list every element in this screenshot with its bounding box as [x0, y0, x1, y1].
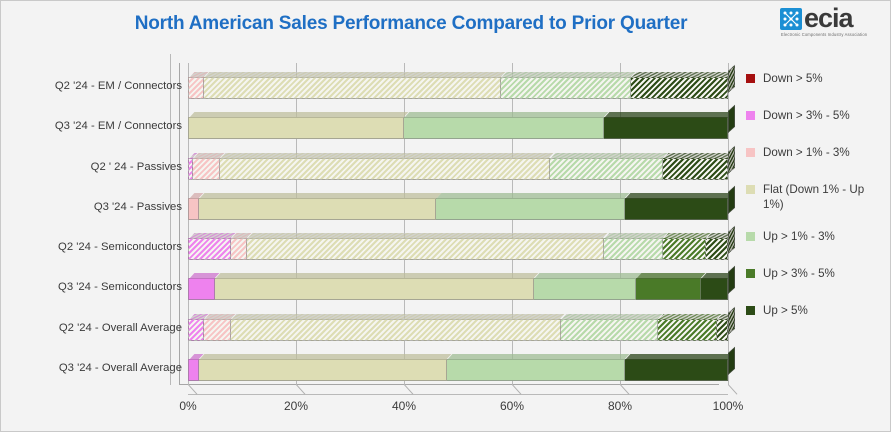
bar-segment[interactable]: [199, 198, 437, 220]
ecia-tagline: Electronic Components Industry Associati…: [781, 32, 884, 37]
bar-segment-top-face: [220, 153, 554, 159]
plot-floor-edge: [188, 394, 728, 395]
ecia-wordmark: ecia: [804, 3, 853, 33]
bar-end-cap: [728, 145, 735, 173]
bar-segment[interactable]: [706, 238, 728, 260]
chart-legend: Down > 5%Down > 3% - 5%Down > 1% - 3%Fla…: [746, 71, 886, 340]
bar-segment[interactable]: [436, 198, 625, 220]
y-axis-tick-label: Q2 '24 - EM / Connectors: [14, 80, 182, 92]
legend-item[interactable]: Down > 1% - 3%: [746, 145, 886, 165]
bar-segment-top-face: [501, 72, 635, 78]
bar-segment[interactable]: [636, 278, 701, 300]
bar-segment[interactable]: [188, 359, 199, 381]
bar-segment[interactable]: [561, 319, 658, 341]
bar-segment-top-face: [561, 314, 663, 320]
legend-item[interactable]: Up > 1% - 3%: [746, 229, 886, 249]
bar-segment[interactable]: [701, 278, 728, 300]
bar-row[interactable]: [188, 77, 728, 103]
bar-segment[interactable]: [501, 77, 631, 99]
legend-swatch-icon: [746, 306, 755, 315]
bar-segment[interactable]: [658, 319, 717, 341]
bar-end-cap: [728, 105, 735, 133]
legend-swatch-icon: [746, 111, 755, 120]
bar-segment[interactable]: [625, 198, 728, 220]
bar-segment-top-face: [189, 233, 236, 239]
bar-segment-top-face: [215, 273, 538, 279]
y-axis-tick-label: Q2 '24 - Semiconductors: [14, 241, 182, 253]
y-axis-tick-label: Q3 '24 - Overall Average: [14, 362, 182, 374]
bar-row[interactable]: [188, 359, 728, 385]
bar-segment[interactable]: [220, 158, 549, 180]
legend-swatch-icon: [746, 148, 755, 157]
bar-end-cap: [728, 306, 735, 334]
bar-segment[interactable]: [199, 359, 447, 381]
x-axis-tick-label: 100%: [698, 399, 758, 413]
legend-label: Down > 3% - 5%: [763, 109, 850, 122]
bar-segment-top-face: [550, 153, 668, 159]
bar-segment[interactable]: [188, 319, 204, 341]
bar-segment[interactable]: [188, 278, 215, 300]
gridline-depth-tick: [728, 384, 737, 394]
x-axis-tick-label: 60%: [482, 399, 542, 413]
bar-segment-top-face: [189, 112, 408, 118]
bar-segment-top-face: [447, 354, 630, 360]
x-axis-tick-label: 80%: [590, 399, 650, 413]
bar-segment[interactable]: [447, 359, 625, 381]
bar-segment-top-face: [631, 72, 733, 78]
bar-segment[interactable]: [550, 158, 663, 180]
y-axis-tick-label: Q3 '24 - Semiconductors: [14, 281, 182, 293]
bar-segment-top-face: [658, 314, 722, 320]
bar-row[interactable]: [188, 238, 728, 264]
legend-item[interactable]: Down > 5%: [746, 71, 886, 91]
bar-end-cap: [728, 346, 735, 374]
bar-row[interactable]: [188, 319, 728, 345]
bar-row[interactable]: [188, 117, 728, 143]
legend-item[interactable]: Down > 3% - 5%: [746, 108, 886, 128]
ecia-logo: ecia Electronic Components Industry Asso…: [780, 5, 884, 41]
bar-segment[interactable]: [663, 158, 728, 180]
chart-page: North American Sales Performance Compare…: [0, 0, 891, 432]
bar-segment-top-face: [604, 233, 668, 239]
bar-segment[interactable]: [663, 238, 706, 260]
bar-segment[interactable]: [204, 319, 231, 341]
bar-segment[interactable]: [534, 278, 637, 300]
bar-segment[interactable]: [188, 77, 204, 99]
bar-segment-top-face: [231, 314, 565, 320]
bar-segment[interactable]: [247, 238, 603, 260]
bar-segment-top-face: [663, 153, 732, 159]
bar-segment-top-face: [663, 233, 711, 239]
legend-swatch-icon: [746, 269, 755, 278]
bar-segment[interactable]: [604, 238, 663, 260]
legend-label: Down > 1% - 3%: [763, 146, 850, 159]
y-axis-tick-label: Q3 '24 - EM / Connectors: [14, 120, 182, 132]
bar-end-cap: [728, 185, 735, 213]
bar-segment[interactable]: [625, 359, 728, 381]
bar-segment[interactable]: [188, 198, 199, 220]
legend-label: Up > 5%: [763, 304, 808, 317]
bar-segment-top-face: [636, 273, 705, 279]
legend-item[interactable]: Up > 5%: [746, 303, 886, 323]
bar-segment-top-face: [436, 193, 629, 199]
y-axis-tick-label: Q2 '24 - Overall Average: [14, 322, 182, 334]
bar-segment[interactable]: [404, 117, 604, 139]
bar-segment-top-face: [534, 273, 641, 279]
bar-segment-top-face: [404, 112, 608, 118]
legend-item[interactable]: Up > 3% - 5%: [746, 266, 886, 286]
y-axis-tick-label: Q2 ' 24 - Passives: [14, 161, 182, 173]
bar-segment-top-face: [247, 233, 608, 239]
bar-segment-top-face: [199, 354, 452, 360]
legend-label: Up > 3% - 5%: [763, 267, 835, 280]
legend-label: Flat (Down 1% - Up 1%): [763, 183, 864, 211]
legend-swatch-icon: [746, 185, 755, 194]
bar-segment[interactable]: [188, 238, 231, 260]
bar-segment-top-face: [199, 193, 441, 199]
bar-row[interactable]: [188, 278, 728, 304]
legend-swatch-icon: [746, 232, 755, 241]
legend-label: Down > 5%: [763, 72, 823, 85]
plot-side-wall: [170, 54, 171, 385]
bar-segment[interactable]: [188, 117, 404, 139]
bar-row[interactable]: [188, 158, 728, 184]
legend-swatch-icon: [746, 74, 755, 83]
bar-segment[interactable]: [717, 319, 728, 341]
bar-segment[interactable]: [215, 278, 534, 300]
bar-segment-top-face: [625, 193, 732, 199]
bar-segment[interactable]: [231, 238, 247, 260]
legend-label: Up > 1% - 3%: [763, 230, 835, 243]
bar-end-cap: [728, 226, 735, 254]
bar-segment-top-face: [625, 354, 732, 360]
x-axis-tick-label: 20%: [266, 399, 326, 413]
chart-plot-area: Q2 '24 - EM / ConnectorsQ3 '24 - EM / Co…: [179, 63, 725, 393]
bar-segment[interactable]: [231, 319, 560, 341]
chart-header: North American Sales Performance Compare…: [1, 1, 891, 47]
bar-segment[interactable]: [204, 77, 501, 99]
bar-segment-top-face: [604, 112, 733, 118]
x-axis-tick-label: 0%: [158, 399, 218, 413]
bar-row[interactable]: [188, 198, 728, 224]
bar-segment-top-face: [204, 72, 505, 78]
bar-segment[interactable]: [604, 117, 728, 139]
bar-end-cap: [728, 266, 735, 294]
legend-item[interactable]: Flat (Down 1% - Up 1%): [746, 182, 886, 212]
bar-end-cap: [728, 65, 735, 93]
ecia-mark-icon: [780, 8, 802, 30]
y-axis-tick-label: Q3 '24 - Passives: [14, 201, 182, 213]
x-axis-tick-label: 40%: [374, 399, 434, 413]
bar-segment[interactable]: [631, 77, 728, 99]
page-title: North American Sales Performance Compare…: [111, 13, 711, 35]
bar-segment[interactable]: [193, 158, 220, 180]
